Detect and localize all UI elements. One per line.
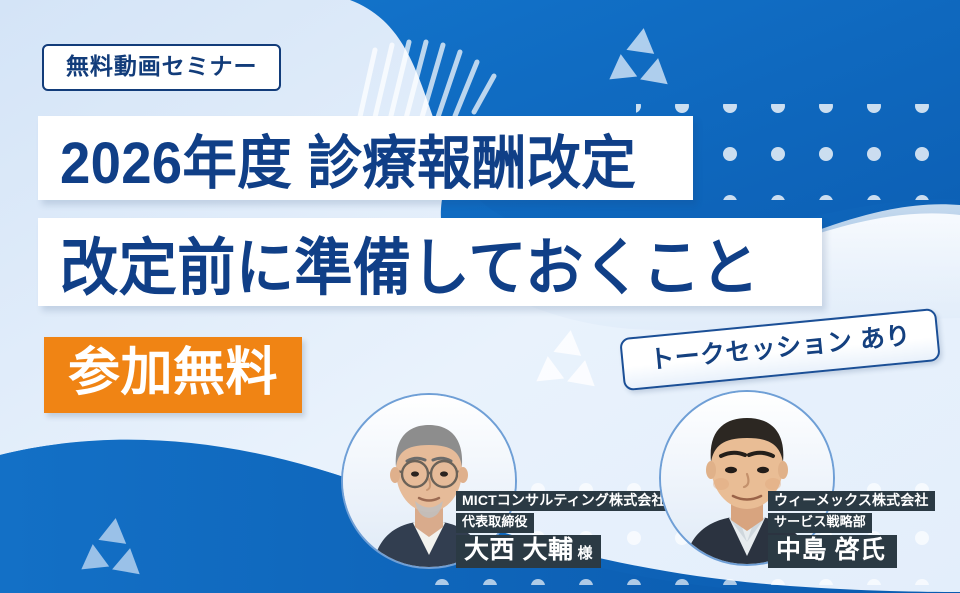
headline-line-1-text: 2026年度 診療報酬改定 [60,116,636,200]
speaker-1-name-text: 大西 大輔 [464,536,573,564]
free-participation-badge: 参加無料 [44,337,302,413]
speaker-2-info: ウィーメックス株式会社 サービス戦略部 中島 啓氏 [768,491,935,570]
headline-line-1: 2026年度 診療報酬改定 [38,116,693,200]
triangle-cluster-icon [80,518,144,574]
headline-line-2: 改定前に準備しておくこと [38,218,822,306]
speaker-1-company: MICTコンサルティング株式会社 [456,491,672,511]
speaker-1-info: MICTコンサルティング株式会社 代表取締役 大西 大輔様 [456,491,672,570]
speaker-1-name: 大西 大輔様 [456,535,601,569]
headline-line-2-text: 改定前に準備しておくこと [60,217,759,307]
webinar-banner: 無料動画セミナー 2026年度 診療報酬改定 改定前に準備しておくこと 参加無料… [0,0,960,593]
speaker-2-name: 中島 啓氏 [768,535,897,569]
speaker-1-name-suffix: 様 [577,545,593,562]
speaker-1-role: 代表取締役 [456,513,534,532]
speaker-2-role: サービス戦略部 [768,513,872,532]
speaker-2-company: ウィーメックス株式会社 [768,491,935,511]
free-video-seminar-tag: 無料動画セミナー [42,44,281,91]
triangle-cluster-icon [608,28,672,84]
speaker-2-name-text: 中島 啓氏 [776,536,885,564]
triangle-cluster-icon [535,330,599,386]
